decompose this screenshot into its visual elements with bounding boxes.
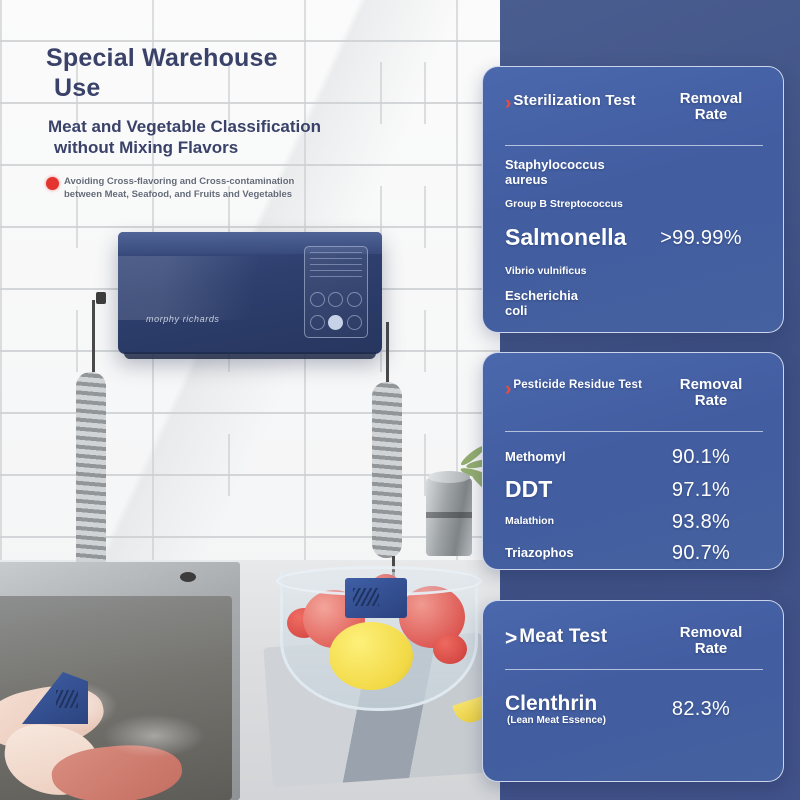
purifier-module-in-bowl	[345, 578, 407, 618]
rate-header-line-1: Removal	[680, 624, 743, 641]
chevron-right-icon: >	[505, 628, 517, 649]
wall-mounted-purifier: morphy richards	[118, 232, 382, 354]
table-row: Salmonella >99.99%	[483, 217, 783, 259]
table-row: Malathion 93.8%	[483, 507, 783, 537]
row-label-line-2: aureus	[505, 172, 548, 187]
row-label-line-1: Staphylococcus	[505, 157, 605, 172]
result-rows: Clenthrin (Lean Meat Essence) 82.3%	[483, 679, 783, 739]
bullet-line-1: Avoiding Cross-flavoring and Cross-conta…	[64, 176, 294, 187]
row-rate: 90.1%	[639, 447, 783, 467]
table-row: Escherichia coli	[483, 285, 783, 323]
row-label-line-2: (Lean Meat Essence)	[505, 715, 639, 726]
card-title: Meat Test	[519, 627, 607, 648]
row-label-line-1: Escherichia	[505, 288, 578, 303]
card-title: Pesticide Residue Test	[513, 379, 642, 392]
row-rate: >99.99%	[639, 228, 783, 248]
result-rows: Staphylococcus aureus Group B Streptococ…	[483, 153, 783, 323]
cord-plug	[96, 292, 106, 304]
row-label: Group B Streptococcus	[483, 199, 639, 211]
headline-line-1: Special Warehouse	[46, 44, 278, 72]
power-cord-right	[386, 322, 389, 382]
control-panel[interactable]	[304, 246, 368, 338]
steel-canister	[426, 478, 472, 556]
lemon	[329, 622, 413, 690]
row-rate: 93.8%	[639, 512, 783, 532]
mode-button-2[interactable]	[328, 292, 343, 307]
row-label: Triazophos	[483, 546, 639, 561]
row-label-line-2: coli	[505, 303, 527, 318]
card-sterilization-test: › Sterilization Test Removal Rate Staphy…	[482, 66, 784, 333]
table-row: Vibrio vulnificus	[483, 259, 783, 285]
bullet-point: Avoiding Cross-flavoring and Cross-conta…	[46, 176, 346, 202]
subheadline: Meat and Vegetable Classification withou…	[48, 116, 468, 159]
power-button[interactable]	[328, 315, 343, 330]
chevron-right-icon: ›	[505, 380, 511, 399]
table-row: Triazophos 90.7%	[483, 537, 783, 569]
mode-button-3[interactable]	[347, 292, 362, 307]
product-infographic: morphy richards	[0, 0, 800, 800]
strawberry-3	[433, 634, 467, 664]
table-row: Staphylococcus aureus	[483, 153, 783, 193]
row-label: Methomyl	[483, 450, 639, 465]
rate-header-line-2: Rate	[695, 106, 728, 123]
brand-logo: morphy richards	[146, 314, 220, 324]
header-divider	[505, 431, 763, 432]
result-rows: Methomyl 90.1% DDT 97.1% Malathion 93.8%…	[483, 441, 783, 569]
coiled-hose-left	[76, 372, 106, 584]
sink-drain-hole	[180, 572, 196, 582]
mode-button-5[interactable]	[347, 315, 362, 330]
canister-band	[426, 512, 472, 518]
bullet-line-2: between Meat, Seafood, and Fruits and Ve…	[64, 189, 292, 200]
row-label: DDT	[483, 477, 639, 503]
device-base	[124, 352, 376, 359]
coiled-hose-right	[372, 382, 402, 558]
chevron-right-icon: ›	[505, 94, 511, 113]
card-meat-test: > Meat Test Removal Rate Clenthrin (Lean…	[482, 600, 784, 782]
row-label: Vibrio vulnificus	[483, 266, 639, 278]
card-title: Sterilization Test	[513, 93, 636, 110]
card-pesticide-residue-test: › Pesticide Residue Test Removal Rate Me…	[482, 352, 784, 570]
rate-header-line-2: Rate	[695, 640, 728, 657]
rate-column-header: Removal Rate	[659, 377, 763, 409]
row-label-line-1: Clenthrin	[505, 692, 597, 715]
mode-button-4[interactable]	[310, 315, 325, 330]
table-row: Methomyl 90.1%	[483, 441, 783, 473]
header-divider	[505, 669, 763, 670]
bullet-dot-icon	[46, 177, 59, 190]
sink-basin	[0, 596, 232, 800]
row-rate: 82.3%	[639, 699, 783, 719]
row-label: Salmonella	[483, 225, 639, 251]
rate-column-header: Removal Rate	[659, 91, 763, 123]
mode-button-1[interactable]	[310, 292, 325, 307]
row-rate: 90.7%	[639, 543, 783, 563]
rate-header-line-2: Rate	[695, 392, 728, 409]
row-label: Malathion	[483, 516, 639, 528]
subheadline-line-2: without Mixing Flavors	[48, 137, 468, 158]
rate-column-header: Removal Rate	[659, 625, 763, 657]
test-result-cards: › Sterilization Test Removal Rate Staphy…	[482, 0, 800, 800]
power-cord-left	[92, 300, 95, 372]
row-label: Staphylococcus aureus	[483, 158, 639, 187]
table-row: Clenthrin (Lean Meat Essence) 82.3%	[483, 679, 783, 739]
table-row: DDT 97.1%	[483, 473, 783, 507]
control-button-grid[interactable]	[310, 290, 362, 332]
rate-header-line-1: Removal	[680, 376, 743, 393]
row-label: Escherichia coli	[483, 289, 639, 318]
headline-line-2: Use	[46, 74, 466, 104]
headline: Special Warehouse Use	[46, 44, 466, 103]
display-text-lines	[310, 252, 362, 282]
header-divider	[505, 145, 763, 146]
sink-model-mark: SUS304	[106, 572, 149, 583]
table-row: Group B Streptococcus	[483, 193, 783, 217]
row-label: Clenthrin (Lean Meat Essence)	[483, 692, 639, 727]
rate-header-line-1: Removal	[680, 90, 743, 107]
bullet-text: Avoiding Cross-flavoring and Cross-conta…	[64, 176, 294, 202]
subheadline-line-1: Meat and Vegetable Classification	[48, 117, 321, 136]
row-rate: 97.1%	[639, 480, 783, 500]
